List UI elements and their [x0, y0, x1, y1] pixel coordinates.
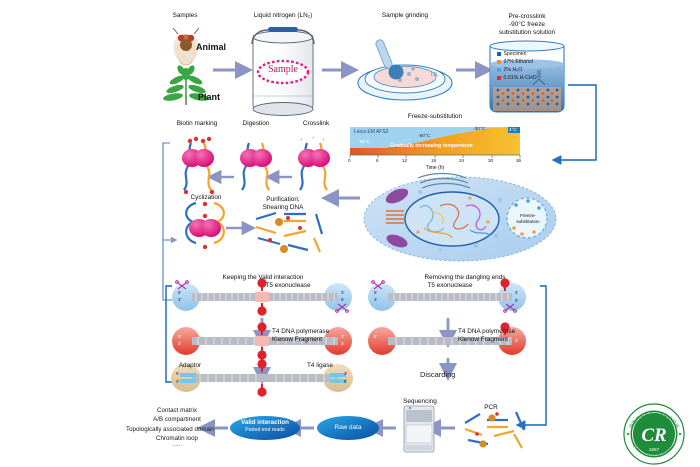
left-t5-label: T5 exonuclease: [250, 282, 326, 290]
svg-text:+: +: [312, 135, 315, 140]
end-label-3prime: 3': [515, 338, 518, 343]
chart-marker-minus60: -60°C: [418, 134, 430, 139]
chart-xtick: 36: [516, 158, 521, 163]
digestion-unit: [240, 143, 272, 190]
connector-biotin-to-cyclization: [163, 143, 172, 240]
end-label-3prime: 3': [178, 297, 181, 302]
output-item: A/B compartment: [142, 415, 212, 424]
t4-ligase-label: T4 ligase: [296, 362, 344, 370]
raw-data-label: Raw data: [318, 424, 378, 431]
crosslink-unit: +++: [298, 135, 330, 190]
legend-item-specimen: Specimen: [497, 50, 577, 58]
chart-xtick: 18: [431, 158, 436, 163]
right-pol-label-2: Klenow Fragment: [458, 336, 554, 344]
discarding-label: Discarding: [420, 370, 455, 379]
end-label-3prime: 3': [176, 379, 179, 384]
end-label-5prime: 5': [178, 290, 181, 295]
chart-title: Freeze-substitution: [395, 113, 475, 121]
output-item: Contact matrix: [142, 406, 212, 415]
logo-year: 1957: [649, 447, 660, 452]
sequencer-machine: [404, 406, 434, 452]
output-item: ······: [142, 443, 212, 451]
svg-text:+: +: [322, 137, 325, 142]
purification-label-2: Shearing DNA: [248, 204, 318, 212]
end-label-5prime: 5': [374, 334, 377, 339]
figure-canvas: +++: [0, 0, 700, 467]
legend-swatch-icon: [497, 68, 501, 72]
end-label-5prime: 5': [178, 334, 181, 339]
beaker-title-1: Pre-crosslink: [481, 13, 573, 21]
chart-annotation: Gradually increasing temperature: [390, 143, 473, 149]
left-panel-title: Keeping the Valid interaction: [187, 274, 339, 282]
legend-swatch-icon: [497, 76, 501, 80]
outputs-list: Contact matrix A/B compartment Topologic…: [142, 406, 212, 451]
beaker-legend: Specimen 97% Ethanol 2% H₂O 0.01% H-CHO: [497, 50, 577, 82]
connector-to-enzyme-panel: [163, 240, 175, 300]
legend-label: 0.01% H-CHO: [504, 74, 537, 82]
grinding-title: Sample grinding: [368, 12, 442, 20]
beaker-title-3: substitution solution: [473, 29, 581, 37]
adaptor-label: Adaptor: [168, 362, 212, 370]
end-label-3prime: 3': [341, 334, 344, 339]
end-label-5prime: 5': [374, 290, 377, 295]
legend-label: 97% Ethanol: [504, 58, 533, 66]
end-label-5prime: 5': [341, 297, 344, 302]
end-label-5prime: 5': [344, 379, 347, 384]
end-label-3prime: 3': [515, 290, 518, 295]
legend-item-water: 2% H₂O: [497, 66, 577, 74]
purification-label-1: Purification;: [248, 196, 318, 204]
end-label-5prime: 5': [341, 341, 344, 346]
plant-label: Plant: [198, 92, 244, 103]
ln2-title: Liquid nitrogen (LN₂): [243, 12, 323, 20]
chart-xlabel: Time (h): [405, 165, 465, 171]
animal-label: Animal: [196, 42, 242, 53]
ln2-sample-text: Sample: [253, 64, 313, 75]
chart-xtick: 24: [459, 158, 464, 163]
chart-xtick: 12: [402, 158, 407, 163]
end-label-3prime: 3': [341, 290, 344, 295]
beaker-title-2: -90°C freeze: [481, 21, 573, 29]
legend-item-formaldehyde: 0.01% H-CHO: [497, 74, 577, 82]
chart-xtick: 30: [488, 158, 493, 163]
crosslink-label: Crosslink: [288, 120, 344, 128]
chart-xtick: 6: [376, 158, 379, 163]
right-t5-label: T5 exonuclease: [412, 282, 488, 290]
legend-swatch-icon: [497, 52, 501, 56]
cyclization-label: Cyclization: [178, 194, 234, 202]
legend-swatch-icon: [497, 60, 501, 64]
valid-interaction-label: Valid interaction: [232, 419, 298, 426]
legend-label: Specimen: [504, 50, 527, 58]
chart-device-label: Leica EM AFS2: [354, 129, 388, 135]
output-item: Chromatin loop: [142, 434, 212, 443]
legend-label: 2% H₂O: [504, 66, 523, 74]
end-label-3prime: 3': [344, 371, 347, 376]
workflow-illustration: +++: [0, 0, 700, 467]
svg-text:+: +: [300, 137, 303, 142]
left-pol-label-2: Klenow Fragment: [272, 336, 368, 344]
end-label-5prime: 5': [176, 371, 179, 376]
digestion-label: Digestion: [228, 120, 284, 128]
left-pol-label-1: T4 DNA polymerase: [272, 328, 368, 336]
biotin-marking-unit: [182, 137, 214, 194]
samples-title: Samples: [155, 12, 215, 20]
end-label-3prime: 3': [374, 297, 377, 302]
biotin-marking-label: Biotin marking: [167, 120, 227, 128]
chart-marker-4c: 4°C: [509, 127, 517, 132]
legend-item-ethanol: 97% Ethanol: [497, 58, 577, 66]
right-panel-title: Removing the dangling ends: [385, 274, 545, 282]
sequencing-label: Sequencing: [396, 398, 444, 406]
mortar-and-pestle: [358, 39, 452, 100]
beaker-specimen-dots: [493, 87, 561, 111]
output-item: Topologically associated domain: [126, 425, 212, 434]
paired-end-reads-label: Paired end reads: [232, 427, 298, 433]
logo-monogram: CR: [641, 425, 666, 446]
cyclization-unit: [186, 202, 224, 249]
grinding-ln2-label: LN₂: [424, 72, 446, 78]
chart-marker-minus90: -90°C: [358, 140, 370, 145]
right-pol-label-1: T4 DNA polymerase: [458, 328, 554, 336]
end-label-5prime: 5': [515, 298, 518, 303]
connector-beaker-to-chart: [560, 85, 596, 160]
freeze-substitution-bubble-label: Freeze-substitution: [509, 213, 547, 224]
connector-panel-to-pcr: [524, 382, 546, 425]
chart-marker-minus30: -30°C: [473, 127, 485, 132]
pcr-label: PCR: [468, 404, 514, 412]
end-label-3prime: 3': [178, 341, 181, 346]
chart-xtick: 0: [348, 158, 351, 163]
